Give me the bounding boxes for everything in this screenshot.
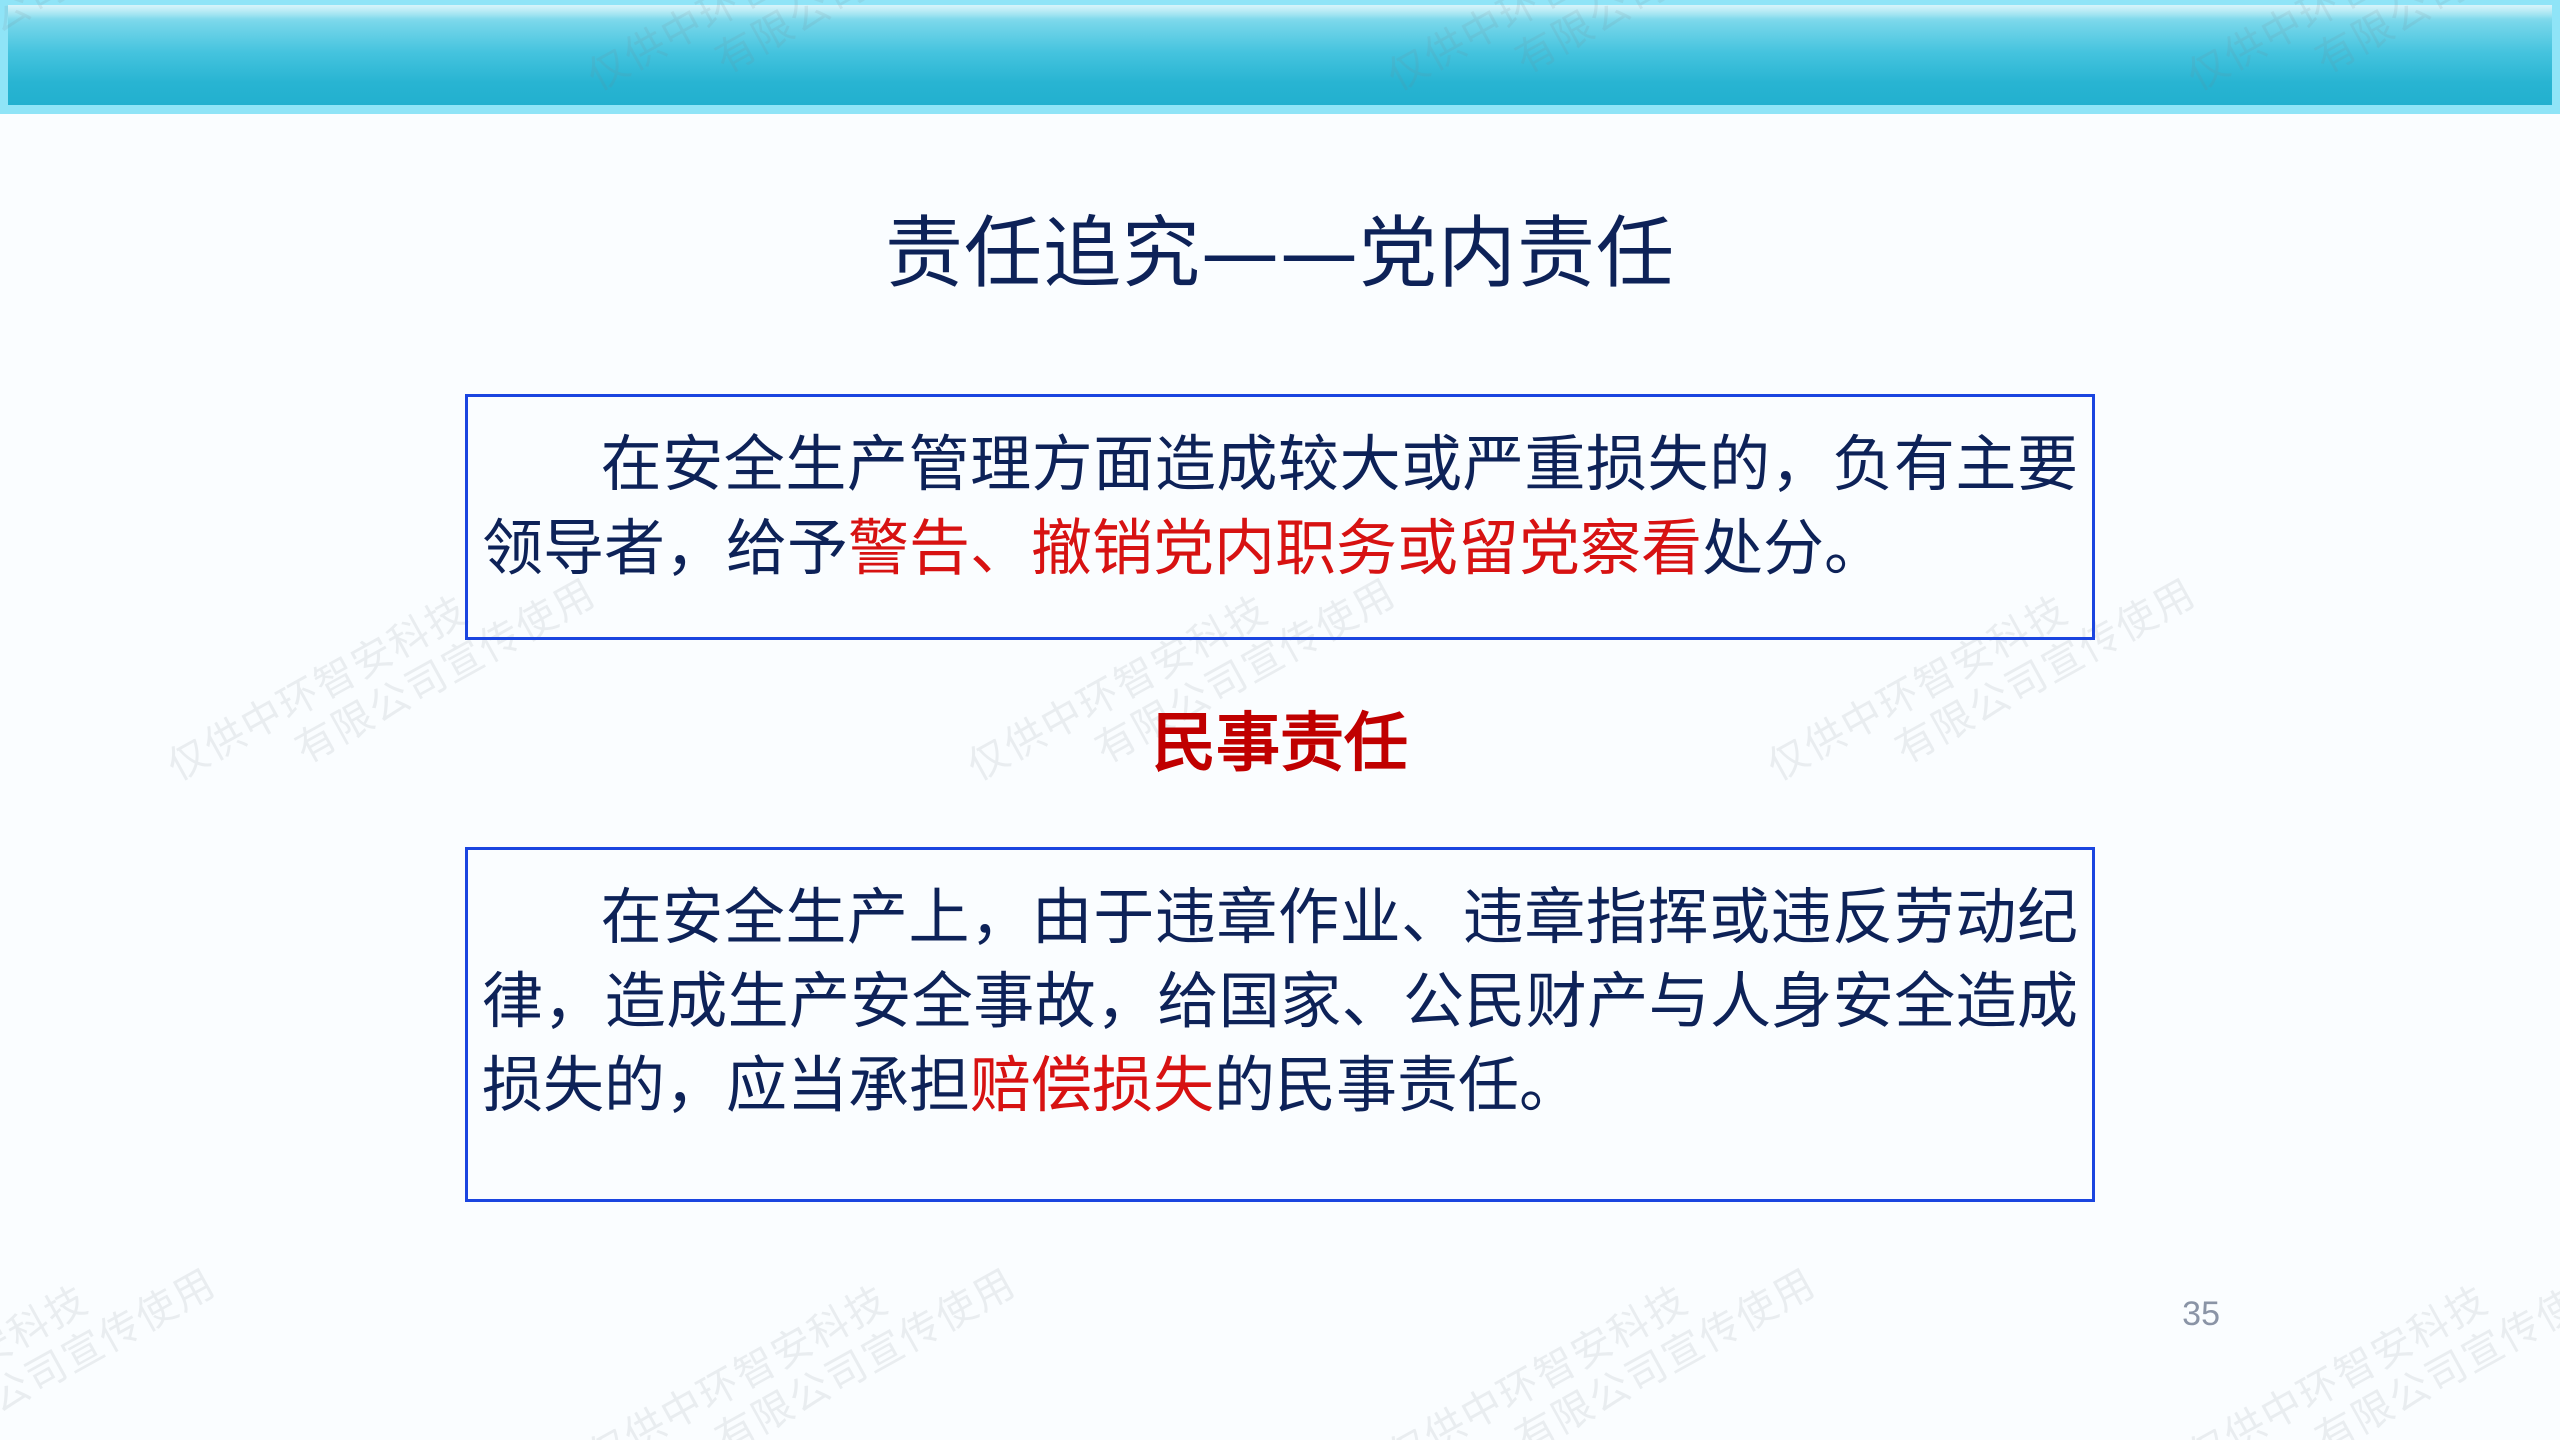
page-number: 35 (2182, 1295, 2220, 1334)
civil-liability-heading: 民事责任 (0, 712, 2560, 776)
civil-liability-text: 在安全生产上，由于违章作业、违章指挥或违反劳动纪律，造成生产安全事故，给国家、公… (468, 850, 2092, 1129)
watermark-line-1: 仅供中环智安科技 (1380, 1219, 1802, 1440)
header-band-highlight (8, 5, 2552, 19)
watermark-line-2: 有限公司宣传使用 (708, 1260, 1025, 1440)
watermark-line-1: 仅供中环智安科技 (2180, 1219, 2560, 1440)
party-liability-box: 在安全生产管理方面造成较大或严重损失的，负有主要领导者，给予警告、撤销党内职务或… (465, 394, 2095, 640)
watermark-line-2: 有限公司宣传使用 (0, 1260, 225, 1440)
header-band-gradient (8, 5, 2552, 105)
watermark-line-1: 仅供中环智安科技 (0, 1219, 202, 1440)
party-liability-text: 在安全生产管理方面造成较大或严重损失的，负有主要领导者，给予警告、撤销党内职务或… (468, 397, 2092, 591)
watermark-line-1: 仅供中环智安科技 (580, 1219, 1002, 1440)
header-band (0, 0, 2560, 114)
party-text-segment-3: 处分。 (1702, 513, 1885, 584)
page-title: 责任追究——党内责任 (0, 215, 2560, 293)
presentation-slide: 责任追究——党内责任 在安全生产管理方面造成较大或严重损失的，负有主要领导者，给… (0, 0, 2560, 1440)
civil-text-highlight: 赔偿损失 (970, 1050, 1214, 1121)
watermark-text: 仅供中环智安科技有限公司宣传使用 (1380, 1219, 1825, 1440)
watermark-text: 仅供中环智安科技有限公司宣传使用 (2180, 1219, 2560, 1440)
watermark-line-2: 有限公司宣传使用 (1508, 1260, 1825, 1440)
civil-text-segment-3: 的民事责任。 (1214, 1050, 1580, 1121)
watermark-text: 仅供中环智安科技有限公司宣传使用 (0, 1219, 225, 1440)
party-text-highlight: 警告、撤销党内职务或留党察看 (848, 513, 1702, 584)
civil-liability-box: 在安全生产上，由于违章作业、违章指挥或违反劳动纪律，造成生产安全事故，给国家、公… (465, 847, 2095, 1202)
watermark-text: 仅供中环智安科技有限公司宣传使用 (580, 1219, 1025, 1440)
watermark-line-2: 有限公司宣传使用 (2308, 1260, 2560, 1440)
